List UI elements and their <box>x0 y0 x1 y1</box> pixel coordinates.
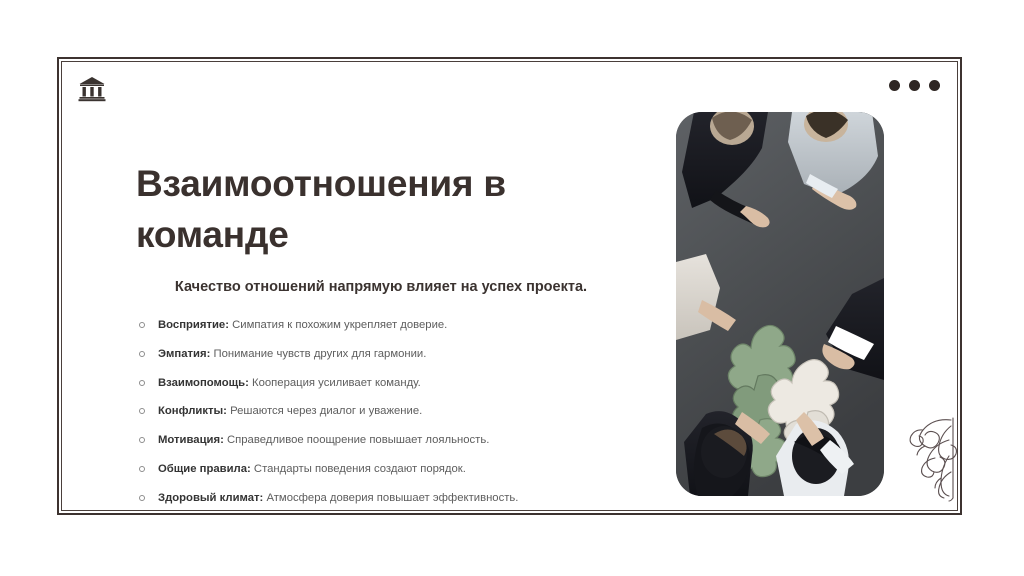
bullet-marker-icon <box>139 408 145 414</box>
list-item-label: Общие правила: <box>158 463 251 475</box>
list-item: Взаимопомощь: Кооперация усиливает коман… <box>138 376 608 391</box>
list-item-text: Атмосфера доверия повышает эффективность… <box>263 492 518 504</box>
list-item-label: Восприятие: <box>158 319 229 331</box>
page-title: Взаимоотношения в команде <box>136 158 576 260</box>
bank-building-icon <box>78 76 106 102</box>
list-item: Мотивация: Справедливое поощрение повыша… <box>138 433 608 448</box>
list-item: Здоровый климат: Атмосфера доверия повыш… <box>138 491 608 506</box>
page-subtitle: Качество отношений напрямую влияет на ус… <box>142 277 620 298</box>
list-item-label: Мотивация: <box>158 434 224 446</box>
list-item-text: Кооперация усиливает команду. <box>249 377 421 389</box>
bullet-list: Восприятие: Симпатия к похожим укрепляет… <box>138 318 608 519</box>
list-item-text: Решаются через диалог и уважение. <box>227 405 422 417</box>
list-item-label: Эмпатия: <box>158 348 210 360</box>
dot-3 <box>929 80 940 91</box>
list-item-text: Справедливое поощрение повышает лояльнос… <box>224 434 490 446</box>
three-dots-icon[interactable] <box>889 80 940 91</box>
list-item-text: Понимание чувств других для гармонии. <box>210 348 426 360</box>
bullet-marker-icon <box>139 351 145 357</box>
list-item-label: Конфликты: <box>158 405 227 417</box>
list-item: Восприятие: Симпатия к похожим укрепляет… <box>138 318 608 333</box>
bullet-marker-icon <box>139 380 145 386</box>
list-item-label: Здоровый климат: <box>158 492 263 504</box>
list-item: Эмпатия: Понимание чувств других для гар… <box>138 347 608 362</box>
list-item: Общие правила: Стандарты поведения созда… <box>138 462 608 477</box>
bullet-marker-icon <box>139 466 145 472</box>
list-item-text: Симпатия к похожим укрепляет доверие. <box>229 319 447 331</box>
team-puzzle-photo <box>676 112 884 496</box>
list-item: Конфликты: Решаются через диалог и уваже… <box>138 404 608 419</box>
dot-1 <box>889 80 900 91</box>
bullet-marker-icon <box>139 322 145 328</box>
slide-root: Взаимоотношения в команде Качество отнош… <box>0 0 1024 576</box>
bullet-marker-icon <box>139 495 145 501</box>
bullet-marker-icon <box>139 437 145 443</box>
list-item-text: Стандарты поведения создают порядок. <box>251 463 466 475</box>
list-item-label: Взаимопомощь: <box>158 377 249 389</box>
dot-2 <box>909 80 920 91</box>
